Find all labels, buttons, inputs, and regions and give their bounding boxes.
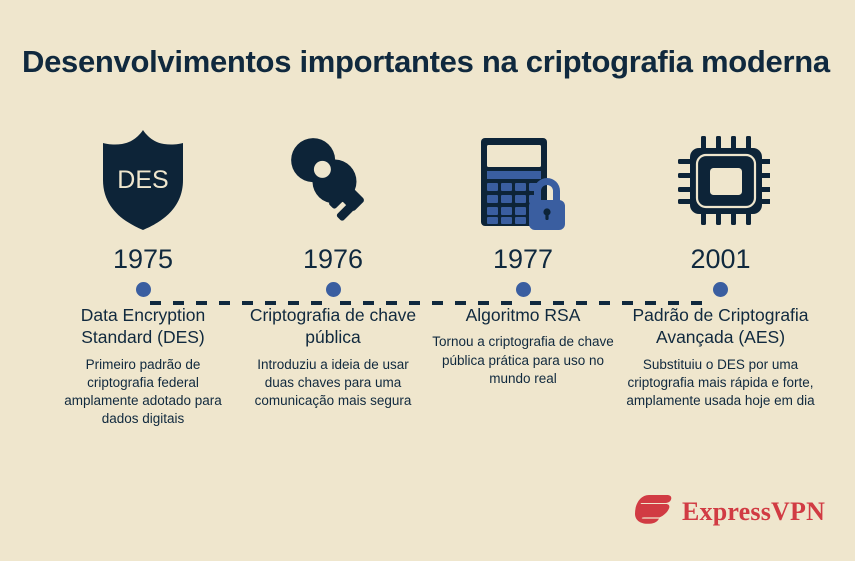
key-icon bbox=[238, 120, 428, 240]
expressvpn-logo: ExpressVPN bbox=[633, 492, 825, 531]
item-headline: Padrão de Criptografia Avançada (AES) bbox=[613, 304, 828, 349]
timeline-dot-wrap bbox=[428, 278, 618, 300]
item-headline: Criptografia de chave pública bbox=[238, 304, 428, 349]
expressvpn-mark-icon bbox=[633, 492, 673, 531]
shield-icon-label: DES bbox=[117, 166, 168, 194]
timeline-columns: DES 1975 Data Encryption Standard (DES) … bbox=[0, 120, 855, 429]
timeline-dot bbox=[516, 282, 531, 297]
page-title: Desenvolvimentos importantes na criptogr… bbox=[22, 44, 834, 80]
timeline-dot bbox=[326, 282, 341, 297]
timeline-dot-wrap bbox=[613, 278, 828, 300]
cpu-chip-icon bbox=[613, 120, 828, 240]
timeline-dot-wrap bbox=[238, 278, 428, 300]
expressvpn-wordmark: ExpressVPN bbox=[682, 497, 825, 527]
timeline-item-1976: 1976 Criptografia de chave pública Intro… bbox=[238, 120, 428, 429]
timeline-dot bbox=[136, 282, 151, 297]
year-label: 1976 bbox=[238, 240, 428, 278]
item-description: Primeiro padrão de criptografia federal … bbox=[48, 356, 238, 429]
shield-des-icon: DES bbox=[48, 120, 238, 240]
timeline-dot-wrap bbox=[48, 278, 238, 300]
calculator-lock-icon bbox=[428, 120, 618, 240]
item-description: Introduziu a ideia de usar duas chaves p… bbox=[238, 356, 428, 411]
infographic-canvas: Desenvolvimentos importantes na criptogr… bbox=[0, 0, 855, 561]
item-headline: Data Encryption Standard (DES) bbox=[48, 304, 238, 349]
year-label: 1977 bbox=[428, 240, 618, 278]
timeline-item-1975: DES 1975 Data Encryption Standard (DES) … bbox=[48, 120, 238, 429]
item-headline: Algoritmo RSA bbox=[428, 304, 618, 326]
item-description: Tornou a criptografia de chave pública p… bbox=[428, 333, 618, 388]
year-label: 1975 bbox=[48, 240, 238, 278]
timeline-item-2001: 2001 Padrão de Criptografia Avançada (AE… bbox=[613, 120, 828, 429]
item-description: Substituiu o DES por uma criptografia ma… bbox=[613, 356, 828, 411]
timeline-dot bbox=[713, 282, 728, 297]
timeline-item-1977: 1977 Algoritmo RSA Tornou a criptografia… bbox=[428, 120, 618, 429]
year-label: 2001 bbox=[613, 240, 828, 278]
